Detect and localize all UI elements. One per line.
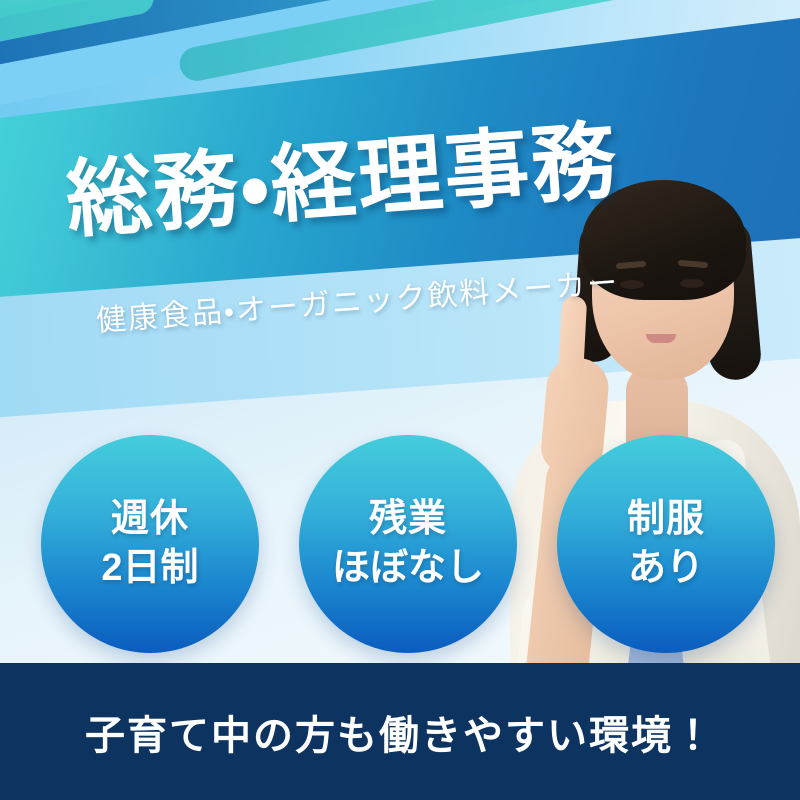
person-eye-right: [680, 279, 704, 288]
feature-badge-overtime: 残業 ほぼなし: [299, 435, 517, 653]
footer-message: 子育て中の方も働きやすい環境！: [85, 703, 715, 761]
person-pointing-finger: [558, 295, 587, 382]
person-eye-left: [620, 280, 644, 289]
feature-badge-uniform: 制服 あり: [557, 435, 775, 653]
feature-badges: 週休 2日制 残業 ほぼなし 制服 あり: [0, 430, 800, 660]
feature-badge-holidays: 週休 2日制: [41, 435, 259, 653]
feature-badge-holidays-line2: 2日制: [101, 544, 198, 593]
feature-badge-uniform-line1: 制服: [627, 495, 705, 544]
job-ad-poster: 総務・経理事務 健康食品・オーガニック飲料メーカー 週休 2日制 残業 ほぼなし…: [0, 0, 800, 800]
person-mouth: [646, 334, 676, 343]
feature-badge-uniform-line2: あり: [628, 544, 704, 593]
feature-badge-holidays-line1: 週休: [111, 495, 189, 544]
feature-badge-overtime-line2: ほぼなし: [332, 544, 484, 593]
footer-banner: 子育て中の方も働きやすい環境！: [0, 663, 800, 800]
feature-badge-overtime-line1: 残業: [369, 495, 447, 544]
